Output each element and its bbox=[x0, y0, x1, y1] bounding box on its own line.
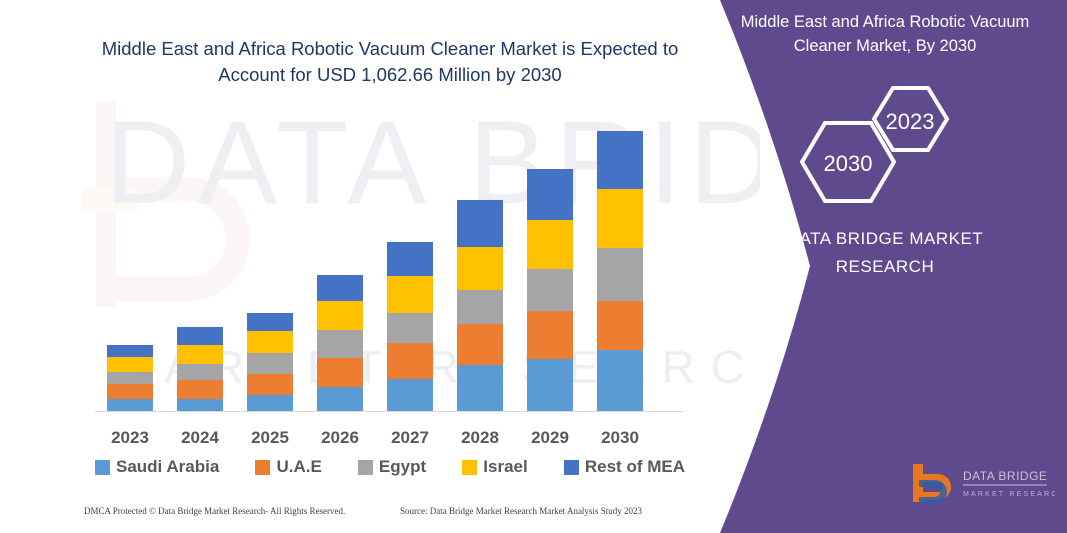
bar-segment bbox=[527, 169, 573, 220]
legend-label: Israel bbox=[483, 457, 527, 477]
x-axis-label: 2025 bbox=[235, 428, 305, 448]
bar-segment bbox=[317, 387, 363, 412]
chart-title: Middle East and Africa Robotic Vacuum Cl… bbox=[70, 36, 710, 88]
bar-segment bbox=[177, 364, 223, 380]
bar-stack bbox=[387, 242, 433, 412]
bar-segment bbox=[177, 327, 223, 345]
legend-item: U.A.E bbox=[255, 457, 321, 477]
bar-stack bbox=[527, 169, 573, 413]
bar-segment bbox=[597, 248, 643, 301]
bar-segment bbox=[457, 324, 503, 365]
bar-segment bbox=[597, 301, 643, 350]
bar-segment bbox=[457, 365, 503, 412]
legend-label: U.A.E bbox=[276, 457, 321, 477]
legend-swatch bbox=[358, 460, 373, 475]
brand-panel: Middle East and Africa Robotic Vacuum Cl… bbox=[700, 0, 1067, 533]
legend-swatch bbox=[255, 460, 270, 475]
bar-stack bbox=[177, 327, 223, 412]
infographic-root: DATA BRIDGE MARKET RESEARCH Middle East … bbox=[0, 0, 1067, 533]
bar-stack bbox=[107, 345, 153, 412]
bar-segment bbox=[107, 345, 153, 357]
bar-segment bbox=[107, 384, 153, 399]
x-axis-label: 2024 bbox=[165, 428, 235, 448]
bar-segment bbox=[317, 330, 363, 358]
hexagon-pair-icon: 2023 2030 bbox=[795, 85, 985, 205]
bar-segment bbox=[107, 357, 153, 372]
bar-stack bbox=[457, 200, 503, 412]
legend-item: Egypt bbox=[358, 457, 426, 477]
x-axis-label: 2030 bbox=[585, 428, 655, 448]
bar-segment bbox=[527, 269, 573, 311]
bar-segment bbox=[387, 276, 433, 312]
bar-segment bbox=[597, 131, 643, 189]
x-axis-label: 2028 bbox=[445, 428, 515, 448]
bar-segment bbox=[247, 313, 293, 331]
svg-text:2023: 2023 bbox=[886, 109, 935, 134]
bar-segment bbox=[387, 379, 433, 412]
bar-segment bbox=[597, 189, 643, 247]
stacked-bar-chart bbox=[95, 110, 685, 412]
bar-stack bbox=[317, 275, 363, 412]
x-axis-label: 2026 bbox=[305, 428, 375, 448]
footer-copyright: DMCA Protected © Data Bridge Market Rese… bbox=[84, 506, 345, 516]
brand-name: DATA BRIDGE MARKET RESEARCH bbox=[730, 225, 1040, 281]
svg-text:MARKET RESEARCH: MARKET RESEARCH bbox=[963, 491, 1055, 498]
hexagon-badges: 2023 2030 bbox=[795, 85, 985, 205]
bar-segment bbox=[387, 343, 433, 379]
legend-label: Saudi Arabia bbox=[116, 457, 219, 477]
bar-segment bbox=[527, 311, 573, 359]
bar-stack bbox=[247, 313, 293, 412]
bar-stack bbox=[597, 131, 643, 412]
bar-segment bbox=[387, 242, 433, 276]
legend-item: Rest of MEA bbox=[564, 457, 685, 477]
legend-swatch bbox=[564, 460, 579, 475]
bar-segment bbox=[177, 345, 223, 364]
x-axis-label: 2027 bbox=[375, 428, 445, 448]
legend-label: Egypt bbox=[379, 457, 426, 477]
bar-segment bbox=[457, 290, 503, 324]
x-axis-label: 2023 bbox=[95, 428, 165, 448]
bar-segment bbox=[527, 220, 573, 269]
x-axis-labels: 20232024202520262027202820292030 bbox=[95, 428, 685, 452]
bar-segment bbox=[247, 331, 293, 353]
bar-segment bbox=[317, 275, 363, 301]
svg-text:DATA BRIDGE: DATA BRIDGE bbox=[963, 469, 1047, 483]
chart-legend: Saudi ArabiaU.A.EEgyptIsraelRest of MEA bbox=[95, 455, 685, 479]
svg-text:2030: 2030 bbox=[824, 151, 873, 176]
brand-line-2: RESEARCH bbox=[730, 253, 1040, 281]
bar-segment bbox=[597, 350, 643, 412]
bar-segment bbox=[177, 380, 223, 399]
legend-item: Israel bbox=[462, 457, 527, 477]
brand-line-1: DATA BRIDGE MARKET bbox=[730, 225, 1040, 253]
legend-swatch bbox=[95, 460, 110, 475]
x-axis-line bbox=[95, 411, 683, 412]
footer-source: Source: Data Bridge Market Research Mark… bbox=[400, 506, 642, 516]
bar-segment bbox=[527, 359, 573, 412]
legend-item: Saudi Arabia bbox=[95, 457, 219, 477]
bar-segment bbox=[247, 353, 293, 374]
legend-label: Rest of MEA bbox=[585, 457, 685, 477]
legend-swatch bbox=[462, 460, 477, 475]
bar-segment bbox=[387, 313, 433, 343]
bar-segment bbox=[457, 247, 503, 290]
bar-segment bbox=[247, 395, 293, 412]
bar-segment bbox=[107, 372, 153, 384]
data-bridge-logo-icon: DATA BRIDGE MARKET RESEARCH bbox=[905, 458, 1055, 508]
bar-segment bbox=[247, 374, 293, 395]
bar-segment bbox=[317, 358, 363, 387]
corner-logo: DATA BRIDGE MARKET RESEARCH bbox=[905, 458, 1055, 508]
x-axis-label: 2029 bbox=[515, 428, 585, 448]
bar-segment bbox=[317, 301, 363, 330]
bar-segment bbox=[457, 200, 503, 247]
